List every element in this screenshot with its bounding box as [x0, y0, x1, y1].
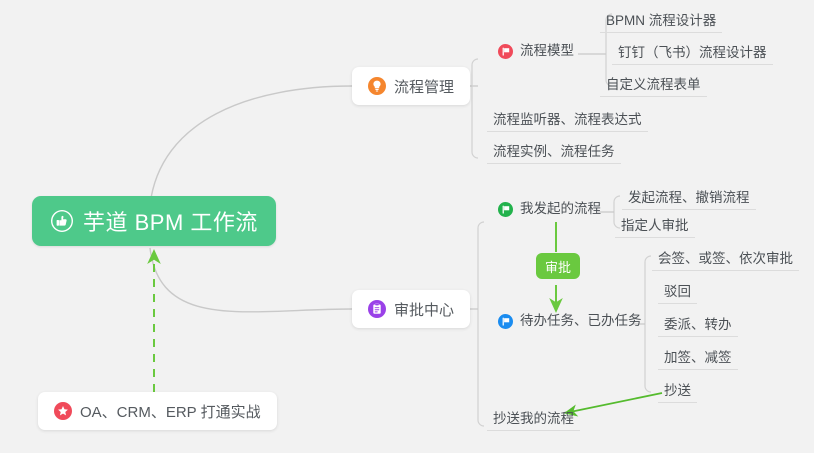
approval-badge-label: 审批	[545, 257, 571, 276]
leaf-label-bpmn-designer: BPMN 流程设计器	[606, 9, 716, 29]
leaf-node-countersign-orsign-sequential[interactable]: 会签、或签、依次审批	[652, 249, 799, 271]
connector-root-to-approval-center	[150, 248, 352, 312]
leaf-node-delegate-transfer[interactable]: 委派、转办	[658, 315, 738, 337]
lightbulb-icon	[368, 77, 386, 95]
bracket-process-management-spine	[472, 59, 478, 158]
flag-icon	[498, 44, 513, 59]
leaf-label-delegate-transfer: 委派、转办	[664, 313, 732, 333]
bottom-note-label: OA、CRM、ERP 打通实战	[80, 401, 261, 422]
leaf-node-cc-my-process[interactable]: 抄送我的流程	[487, 409, 580, 431]
leaf-label-start-cancel-process: 发起流程、撤销流程	[628, 186, 750, 206]
arrow-cc-to-cc-my-process	[570, 393, 662, 412]
bracket-approval-center-spine	[478, 222, 484, 426]
leaf-node-reject[interactable]: 驳回	[658, 282, 697, 304]
star-icon	[54, 402, 72, 420]
leaf-node-start-cancel-process[interactable]: 发起流程、撤销流程	[622, 188, 756, 210]
clipboard-icon	[368, 300, 386, 318]
leaf-node-process-listener-expression[interactable]: 流程监听器、流程表达式	[487, 110, 648, 132]
child-node-my-initiated-process[interactable]: 我发起的流程	[492, 198, 607, 220]
child-label-my-initiated-process: 我发起的流程	[520, 197, 601, 217]
branch-label-approval-center: 审批中心	[394, 299, 454, 320]
leaf-node-dingtalk-feishu-designer[interactable]: 钉钉（飞书）流程设计器	[612, 43, 773, 65]
mindmap-canvas: 芋道 BPM 工作流 流程管理 流程模型 BPMN 流程设计器 钉钉（飞书	[0, 0, 814, 453]
leaf-label-cc: 抄送	[664, 379, 691, 399]
leaf-label-dingtalk-feishu-designer: 钉钉（飞书）流程设计器	[618, 41, 767, 61]
leaf-label-custom-process-form: 自定义流程表单	[606, 73, 701, 93]
flag-icon	[498, 314, 513, 329]
leaf-node-cc[interactable]: 抄送	[658, 381, 697, 403]
root-node[interactable]: 芋道 BPM 工作流	[32, 196, 276, 246]
leaf-node-assigned-approver[interactable]: 指定人审批	[615, 216, 695, 238]
connector-root-to-process-management	[150, 86, 352, 205]
child-label-todo-done-tasks: 待办任务、已办任务	[520, 309, 642, 329]
root-label: 芋道 BPM 工作流	[83, 205, 258, 237]
leaf-label-assigned-approver: 指定人审批	[621, 214, 689, 234]
branch-label-process-management: 流程管理	[394, 76, 454, 97]
leaf-label-add-remove-sign: 加签、减签	[664, 346, 732, 366]
branch-node-approval-center[interactable]: 审批中心	[352, 290, 470, 328]
branch-node-process-management[interactable]: 流程管理	[352, 67, 470, 105]
child-node-todo-done-tasks[interactable]: 待办任务、已办任务	[492, 310, 648, 332]
leaf-node-process-instance-task[interactable]: 流程实例、流程任务	[487, 142, 621, 164]
leaf-label-process-instance-task: 流程实例、流程任务	[493, 140, 615, 160]
child-label-process-model: 流程模型	[520, 39, 574, 59]
leaf-label-countersign-orsign-sequential: 会签、或签、依次审批	[658, 247, 793, 267]
leaf-node-add-remove-sign[interactable]: 加签、减签	[658, 348, 738, 370]
child-node-process-model[interactable]: 流程模型	[492, 40, 580, 62]
bottom-note-node[interactable]: OA、CRM、ERP 打通实战	[38, 392, 277, 430]
leaf-label-reject: 驳回	[664, 280, 691, 300]
leaf-label-process-listener-expression: 流程监听器、流程表达式	[493, 108, 642, 128]
flag-icon	[498, 202, 513, 217]
leaf-node-bpmn-designer[interactable]: BPMN 流程设计器	[600, 11, 722, 33]
thumbs-up-icon	[50, 209, 74, 233]
approval-badge: 审批	[536, 253, 580, 279]
leaf-node-custom-process-form[interactable]: 自定义流程表单	[600, 75, 707, 97]
leaf-label-cc-my-process: 抄送我的流程	[493, 407, 574, 427]
